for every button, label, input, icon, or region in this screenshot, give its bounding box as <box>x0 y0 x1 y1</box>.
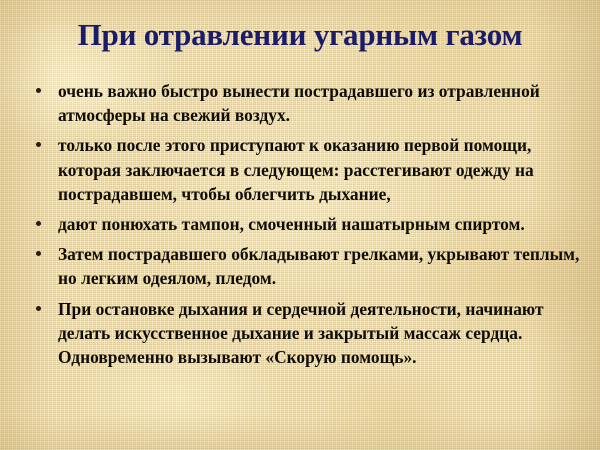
list-item: очень важно быстро вынести пострадавшего… <box>28 79 582 127</box>
bullet-dot-icon <box>36 88 41 93</box>
presentation-slide: При отравлении угарным газом очень важно… <box>0 0 600 450</box>
slide-content: При отравлении угарным газом очень важно… <box>0 0 600 450</box>
list-item: Затем пострадавшего обкладывают грелками… <box>28 242 582 290</box>
list-item: дают понюхать тампон, смоченный нашатырн… <box>28 212 582 236</box>
list-item-text: Затем пострадавшего обкладывают грелками… <box>58 244 579 288</box>
list-item-text: При остановке дыхания и сердечной деятел… <box>58 299 544 367</box>
list-item: При остановке дыхания и сердечной деятел… <box>28 297 582 370</box>
list-item-text: дают понюхать тампон, смоченный нашатырн… <box>58 214 525 234</box>
list-item-text: очень важно быстро вынести пострадавшего… <box>58 81 540 125</box>
bullet-dot-icon <box>36 221 41 226</box>
bullet-list: очень важно быстро вынести пострадавшего… <box>28 79 582 369</box>
bullet-dot-icon <box>36 306 41 311</box>
list-item: только после этого приступают к оказанию… <box>28 133 582 206</box>
list-item-text: только после этого приступают к оказанию… <box>58 135 534 203</box>
bullet-dot-icon <box>36 251 41 256</box>
bullet-dot-icon <box>36 142 41 147</box>
slide-title: При отравлении угарным газом <box>0 18 600 52</box>
